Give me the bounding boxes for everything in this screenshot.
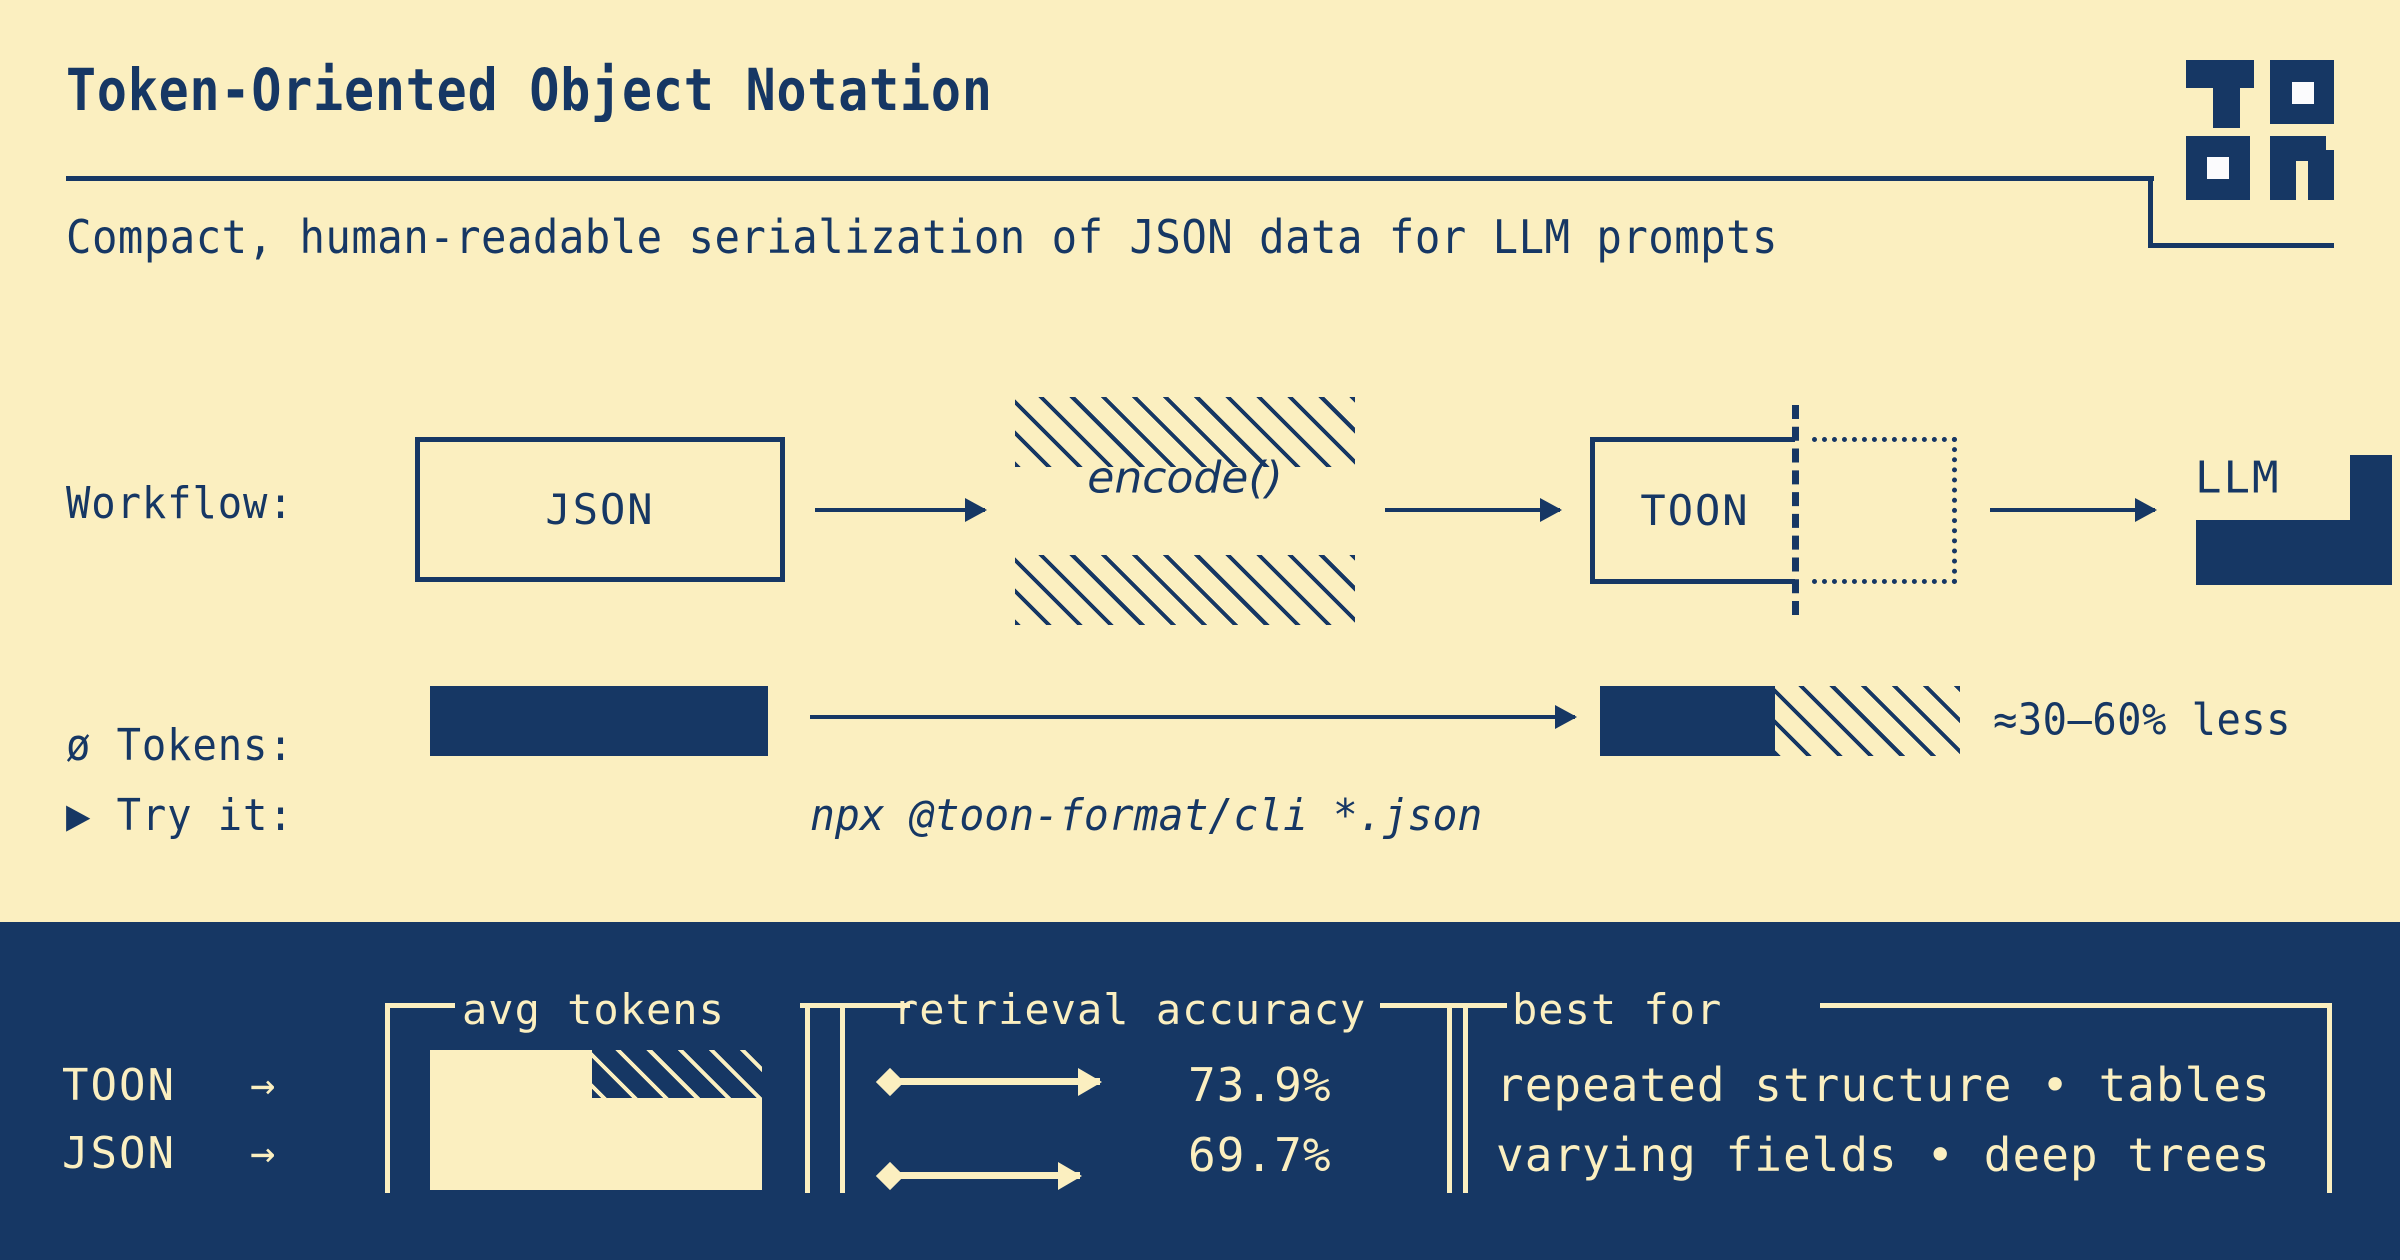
header-rule-horizontal bbox=[66, 176, 2154, 181]
llm-block-horizontal bbox=[2196, 520, 2392, 585]
logo-letter-n-left bbox=[2270, 136, 2296, 200]
retrieval-accuracy-title: retrieval accuracy bbox=[893, 985, 1366, 1034]
best-for-bracket-left bbox=[1447, 1003, 1452, 1193]
tokens-bar-toon-saved-hatch bbox=[1775, 686, 1960, 756]
tokens-savings-label: ≈30–60% less bbox=[1993, 695, 2291, 746]
logo-letter-o-top-hole bbox=[2292, 82, 2314, 104]
panel-row-label-json: JSON bbox=[62, 1128, 176, 1179]
tokens-reduction-arrow bbox=[810, 715, 1575, 719]
page-subtitle: Compact, human-readable serialization of… bbox=[66, 210, 1778, 264]
avg-tokens-bracket-left bbox=[385, 1003, 390, 1193]
poster-canvas: Token-Oriented Object Notation Compact, … bbox=[0, 0, 2400, 1260]
logo-letter-n-right bbox=[2308, 150, 2334, 200]
best-for-bracket-right bbox=[2327, 1003, 2332, 1193]
best-for-rail-left bbox=[1447, 1003, 1507, 1008]
tokens-label: ø Tokens: bbox=[66, 720, 294, 771]
retrieval-accuracy-bracket-left bbox=[840, 1003, 845, 1193]
toon-dotted-extension bbox=[1812, 437, 1957, 584]
retrieval-accuracy-arrow-toon bbox=[900, 1078, 1100, 1085]
toon-divider-dashed bbox=[1792, 405, 1799, 615]
workflow-step-json-label: JSON bbox=[545, 485, 654, 534]
logo-letter-o-top bbox=[2270, 60, 2334, 124]
retrieval-accuracy-value-toon: 73.9% bbox=[1188, 1058, 1331, 1112]
try-it-label: ▶ Try it: bbox=[66, 790, 294, 841]
workflow-step-toon-label: TOON bbox=[1640, 486, 1749, 535]
workflow-step-llm-label: LLM bbox=[2195, 453, 2280, 504]
cli-command[interactable]: npx @toon-format/cli *.json bbox=[810, 790, 1482, 841]
encode-hatch-bottom bbox=[1015, 555, 1355, 625]
header-rule-vertical bbox=[2148, 176, 2153, 248]
avg-tokens-bar-toon bbox=[430, 1050, 592, 1098]
workflow-step-encode-label: encode() bbox=[1015, 453, 1355, 504]
retrieval-accuracy-bracket-right bbox=[1463, 1003, 1468, 1193]
best-for-line-toon: repeated structure • tables bbox=[1496, 1058, 2271, 1112]
retrieval-accuracy-value-json: 69.7% bbox=[1188, 1128, 1331, 1182]
retrieval-accuracy-rail-left bbox=[840, 1003, 888, 1008]
try-it-text: Try it: bbox=[117, 790, 294, 841]
workflow-arrow-json-to-encode bbox=[815, 508, 985, 512]
retrieval-accuracy-arrow-json bbox=[900, 1172, 1080, 1179]
logo-letter-o-bottom-hole bbox=[2207, 157, 2229, 179]
avg-tokens-bar-json bbox=[430, 1098, 762, 1190]
logo-letter-t-stem bbox=[2213, 84, 2240, 128]
tokens-bar-toon-solid bbox=[1600, 686, 1775, 756]
workflow-arrow-encode-to-toon bbox=[1385, 508, 1560, 512]
workflow-step-toon: TOON bbox=[1590, 437, 1795, 584]
header-rule-horizontal-lower bbox=[2148, 243, 2334, 248]
best-for-rail-right bbox=[1820, 1003, 2332, 1008]
avg-tokens-rail-left bbox=[385, 1003, 455, 1008]
panel-row-arrow-toon: → bbox=[250, 1060, 275, 1109]
logo-letter-o-bottom bbox=[2186, 136, 2250, 200]
panel-row-label-toon: TOON bbox=[62, 1060, 176, 1111]
avg-tokens-title: avg tokens bbox=[462, 985, 725, 1034]
workflow-label: Workflow: bbox=[66, 478, 294, 529]
avg-tokens-bracket-right bbox=[805, 1003, 810, 1193]
workflow-arrow-toon-to-llm bbox=[1990, 508, 2155, 512]
tokens-bar-json bbox=[430, 686, 768, 756]
play-triangle-icon: ▶ bbox=[66, 790, 91, 841]
page-title: Token-Oriented Object Notation bbox=[66, 56, 993, 124]
workflow-step-json: JSON bbox=[415, 437, 785, 582]
best-for-title: best for bbox=[1512, 985, 1722, 1034]
best-for-line-json: varying fields • deep trees bbox=[1496, 1128, 2271, 1182]
toon-logo bbox=[2186, 60, 2334, 192]
panel-row-arrow-json: → bbox=[250, 1128, 275, 1177]
